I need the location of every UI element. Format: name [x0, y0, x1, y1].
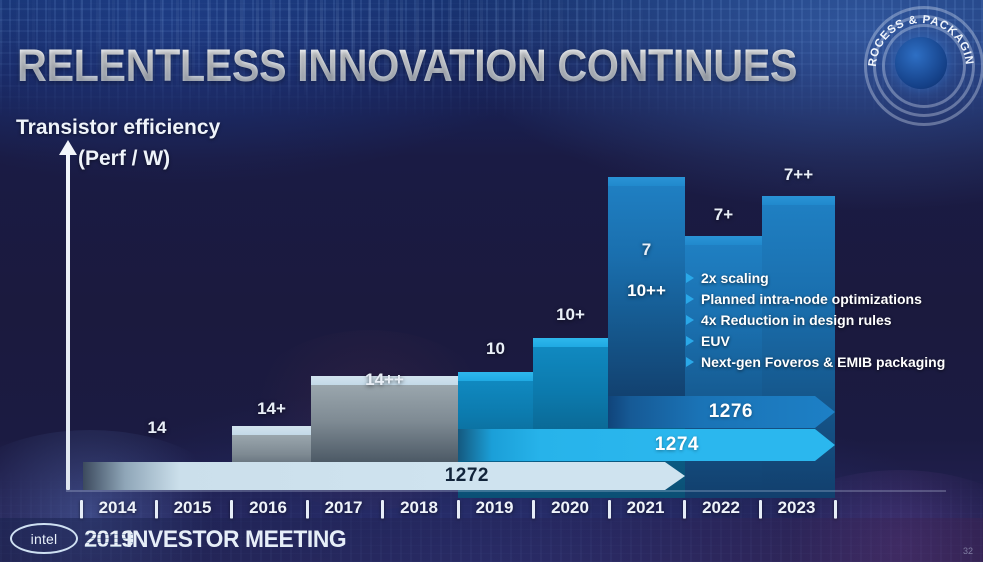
fab-arrow-label: 1272: [445, 465, 685, 487]
bullet-triangle-icon: [686, 357, 694, 367]
annotation-text: EUV: [701, 332, 730, 351]
x-axis-label-2016: 2016: [230, 498, 306, 518]
bar-label-10-plus: 10+: [533, 305, 608, 325]
bullet-triangle-icon: [686, 294, 694, 304]
bullet-triangle-icon: [686, 336, 694, 346]
bar-label-7-plus: 7+: [685, 205, 762, 225]
bar-label-7-plusplus: 7++: [762, 165, 835, 185]
x-axis-label-2015: 2015: [155, 498, 230, 518]
x-axis-label-2018: 2018: [381, 498, 457, 518]
badge-text-path: PROCESS & PACKAGING: [862, 4, 975, 67]
slide-canvas: RELENTLESS INNOVATION CONTINUES PROCESS …: [0, 0, 983, 562]
x-axis-label-2020: 2020: [532, 498, 608, 518]
intel-logo-text: intel: [31, 531, 58, 547]
y-axis-label-line2: (Perf / W): [78, 147, 170, 171]
fab-arrow-1276: 1276: [608, 396, 835, 428]
bar-label-10: 10: [458, 339, 533, 359]
list-item: Planned intra-node optimizations: [686, 290, 945, 309]
x-axis-label-2019: 2019: [457, 498, 532, 518]
annotation-text: Planned intra-node optimizations: [701, 290, 922, 309]
annotation-list: 2x scaling Planned intra-node optimizati…: [686, 269, 945, 374]
x-axis-label-2022: 2022: [683, 498, 759, 518]
x-axis-label-2014: 2014: [80, 498, 155, 518]
list-item: EUV: [686, 332, 945, 351]
bar-cap: [458, 372, 533, 381]
bullet-triangle-icon: [686, 315, 694, 325]
bar-cap: [608, 177, 685, 186]
bar-cap: [762, 196, 835, 205]
x-axis-line: [66, 490, 946, 492]
intel-logo: intel: [10, 523, 78, 554]
y-axis-line: [66, 148, 70, 490]
bar-cap: [232, 426, 311, 435]
fab-arrow-1272: 1272: [83, 462, 685, 490]
x-axis-label-2017: 2017: [306, 498, 381, 518]
page-number: 32: [963, 546, 973, 556]
footer-event-name: INVESTOR MEETING: [126, 526, 346, 554]
process-packaging-badge: PROCESS & PACKAGING: [862, 4, 980, 104]
annotation-text: 4x Reduction in design rules: [701, 311, 892, 330]
fab-arrow-label: 1274: [655, 434, 835, 456]
bar-cap: [685, 236, 762, 245]
bar-label-14-plus: 14+: [232, 399, 311, 419]
annotation-text: Next-gen Foveros & EMIB packaging: [701, 353, 945, 372]
badge-arc-text: PROCESS & PACKAGING: [862, 4, 980, 114]
x-axis-label-2023: 2023: [759, 498, 834, 518]
list-item: Next-gen Foveros & EMIB packaging: [686, 353, 945, 372]
page-title: RELENTLESS INNOVATION CONTINUES: [17, 40, 797, 92]
bar-label-10-plusplus: 10++: [608, 281, 685, 301]
bar-cap: [533, 338, 608, 347]
bar-label-7: 7: [608, 240, 685, 260]
slide-footer: intel 2019 INVESTOR MEETING 32: [0, 518, 983, 562]
x-axis-label-2021: 2021: [608, 498, 683, 518]
bar-label-14: 14: [83, 418, 231, 438]
list-item: 4x Reduction in design rules: [686, 311, 945, 330]
bar-label-14-plusplus: 14++: [311, 370, 458, 390]
y-axis-label-line1: Transistor efficiency: [16, 116, 220, 140]
badge-text: PROCESS & PACKAGING: [862, 4, 975, 67]
bullet-triangle-icon: [686, 273, 694, 283]
annotation-text: 2x scaling: [701, 269, 769, 288]
fab-arrow-label: 1276: [709, 401, 835, 423]
fab-arrow-1274: 1274: [458, 429, 835, 461]
list-item: 2x scaling: [686, 269, 945, 288]
